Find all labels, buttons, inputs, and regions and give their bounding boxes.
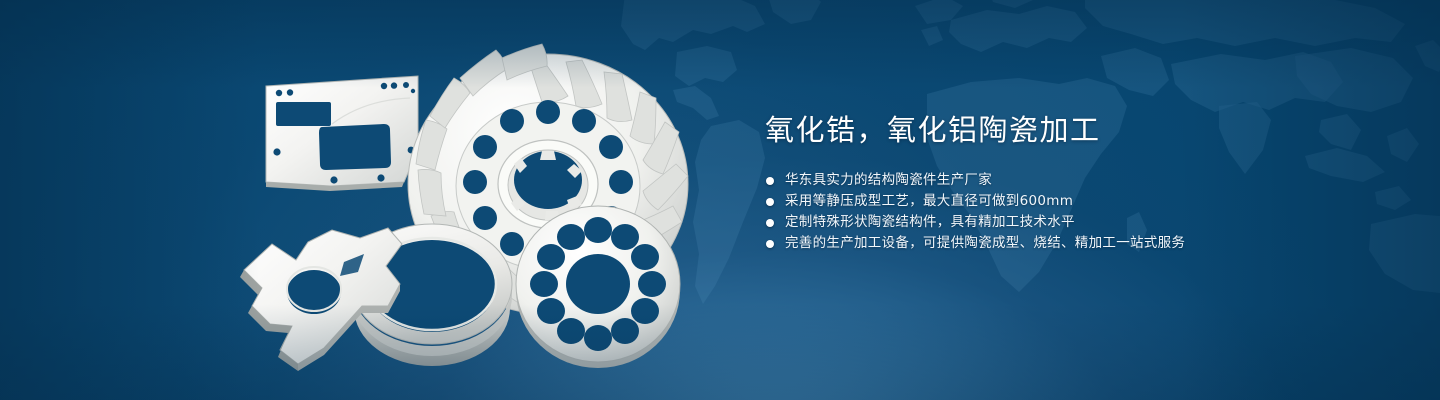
list-item: 采用等静压成型工艺，最大直径可做到600mm xyxy=(765,191,1385,212)
list-item-label: 华东具实力的结构陶瓷件生产厂家 xyxy=(785,172,992,188)
ceramic-machined-plate xyxy=(266,76,418,191)
ceramic-ring xyxy=(352,224,512,366)
ceramic-products-image xyxy=(236,34,716,386)
list-item-label: 完善的生产加工设备，可提供陶瓷成型、烧结、精加工一站式服务 xyxy=(785,235,1185,251)
list-item: 华东具实力的结构陶瓷件生产厂家 xyxy=(765,170,1385,191)
bullet-dot-icon xyxy=(766,198,774,206)
banner-headline: 氧化锆，氧化铝陶瓷加工 xyxy=(765,112,1385,148)
bullet-dot-icon xyxy=(766,240,774,248)
list-item-label: 采用等静压成型工艺，最大直径可做到600mm xyxy=(785,193,1073,209)
ceramic-perforated-disc xyxy=(516,206,680,368)
bullet-dot-icon xyxy=(766,177,774,185)
banner-feature-list: 华东具实力的结构陶瓷件生产厂家 采用等静压成型工艺，最大直径可做到600mm 定… xyxy=(765,170,1385,254)
ceramic-cross-vane xyxy=(240,228,402,371)
ceramic-impeller-disc xyxy=(408,44,688,314)
list-item: 完善的生产加工设备，可提供陶瓷成型、烧结、精加工一站式服务 xyxy=(765,233,1385,254)
list-item-label: 定制特殊形状陶瓷结构件，具有精加工技术水平 xyxy=(785,214,1075,230)
banner-copy: 氧化锆，氧化铝陶瓷加工 华东具实力的结构陶瓷件生产厂家 采用等静压成型工艺，最大… xyxy=(765,112,1385,254)
list-item: 定制特殊形状陶瓷结构件，具有精加工技术水平 xyxy=(765,212,1385,233)
hero-banner: 氧化锆，氧化铝陶瓷加工 华东具实力的结构陶瓷件生产厂家 采用等静压成型工艺，最大… xyxy=(0,0,1440,400)
bullet-dot-icon xyxy=(766,219,774,227)
